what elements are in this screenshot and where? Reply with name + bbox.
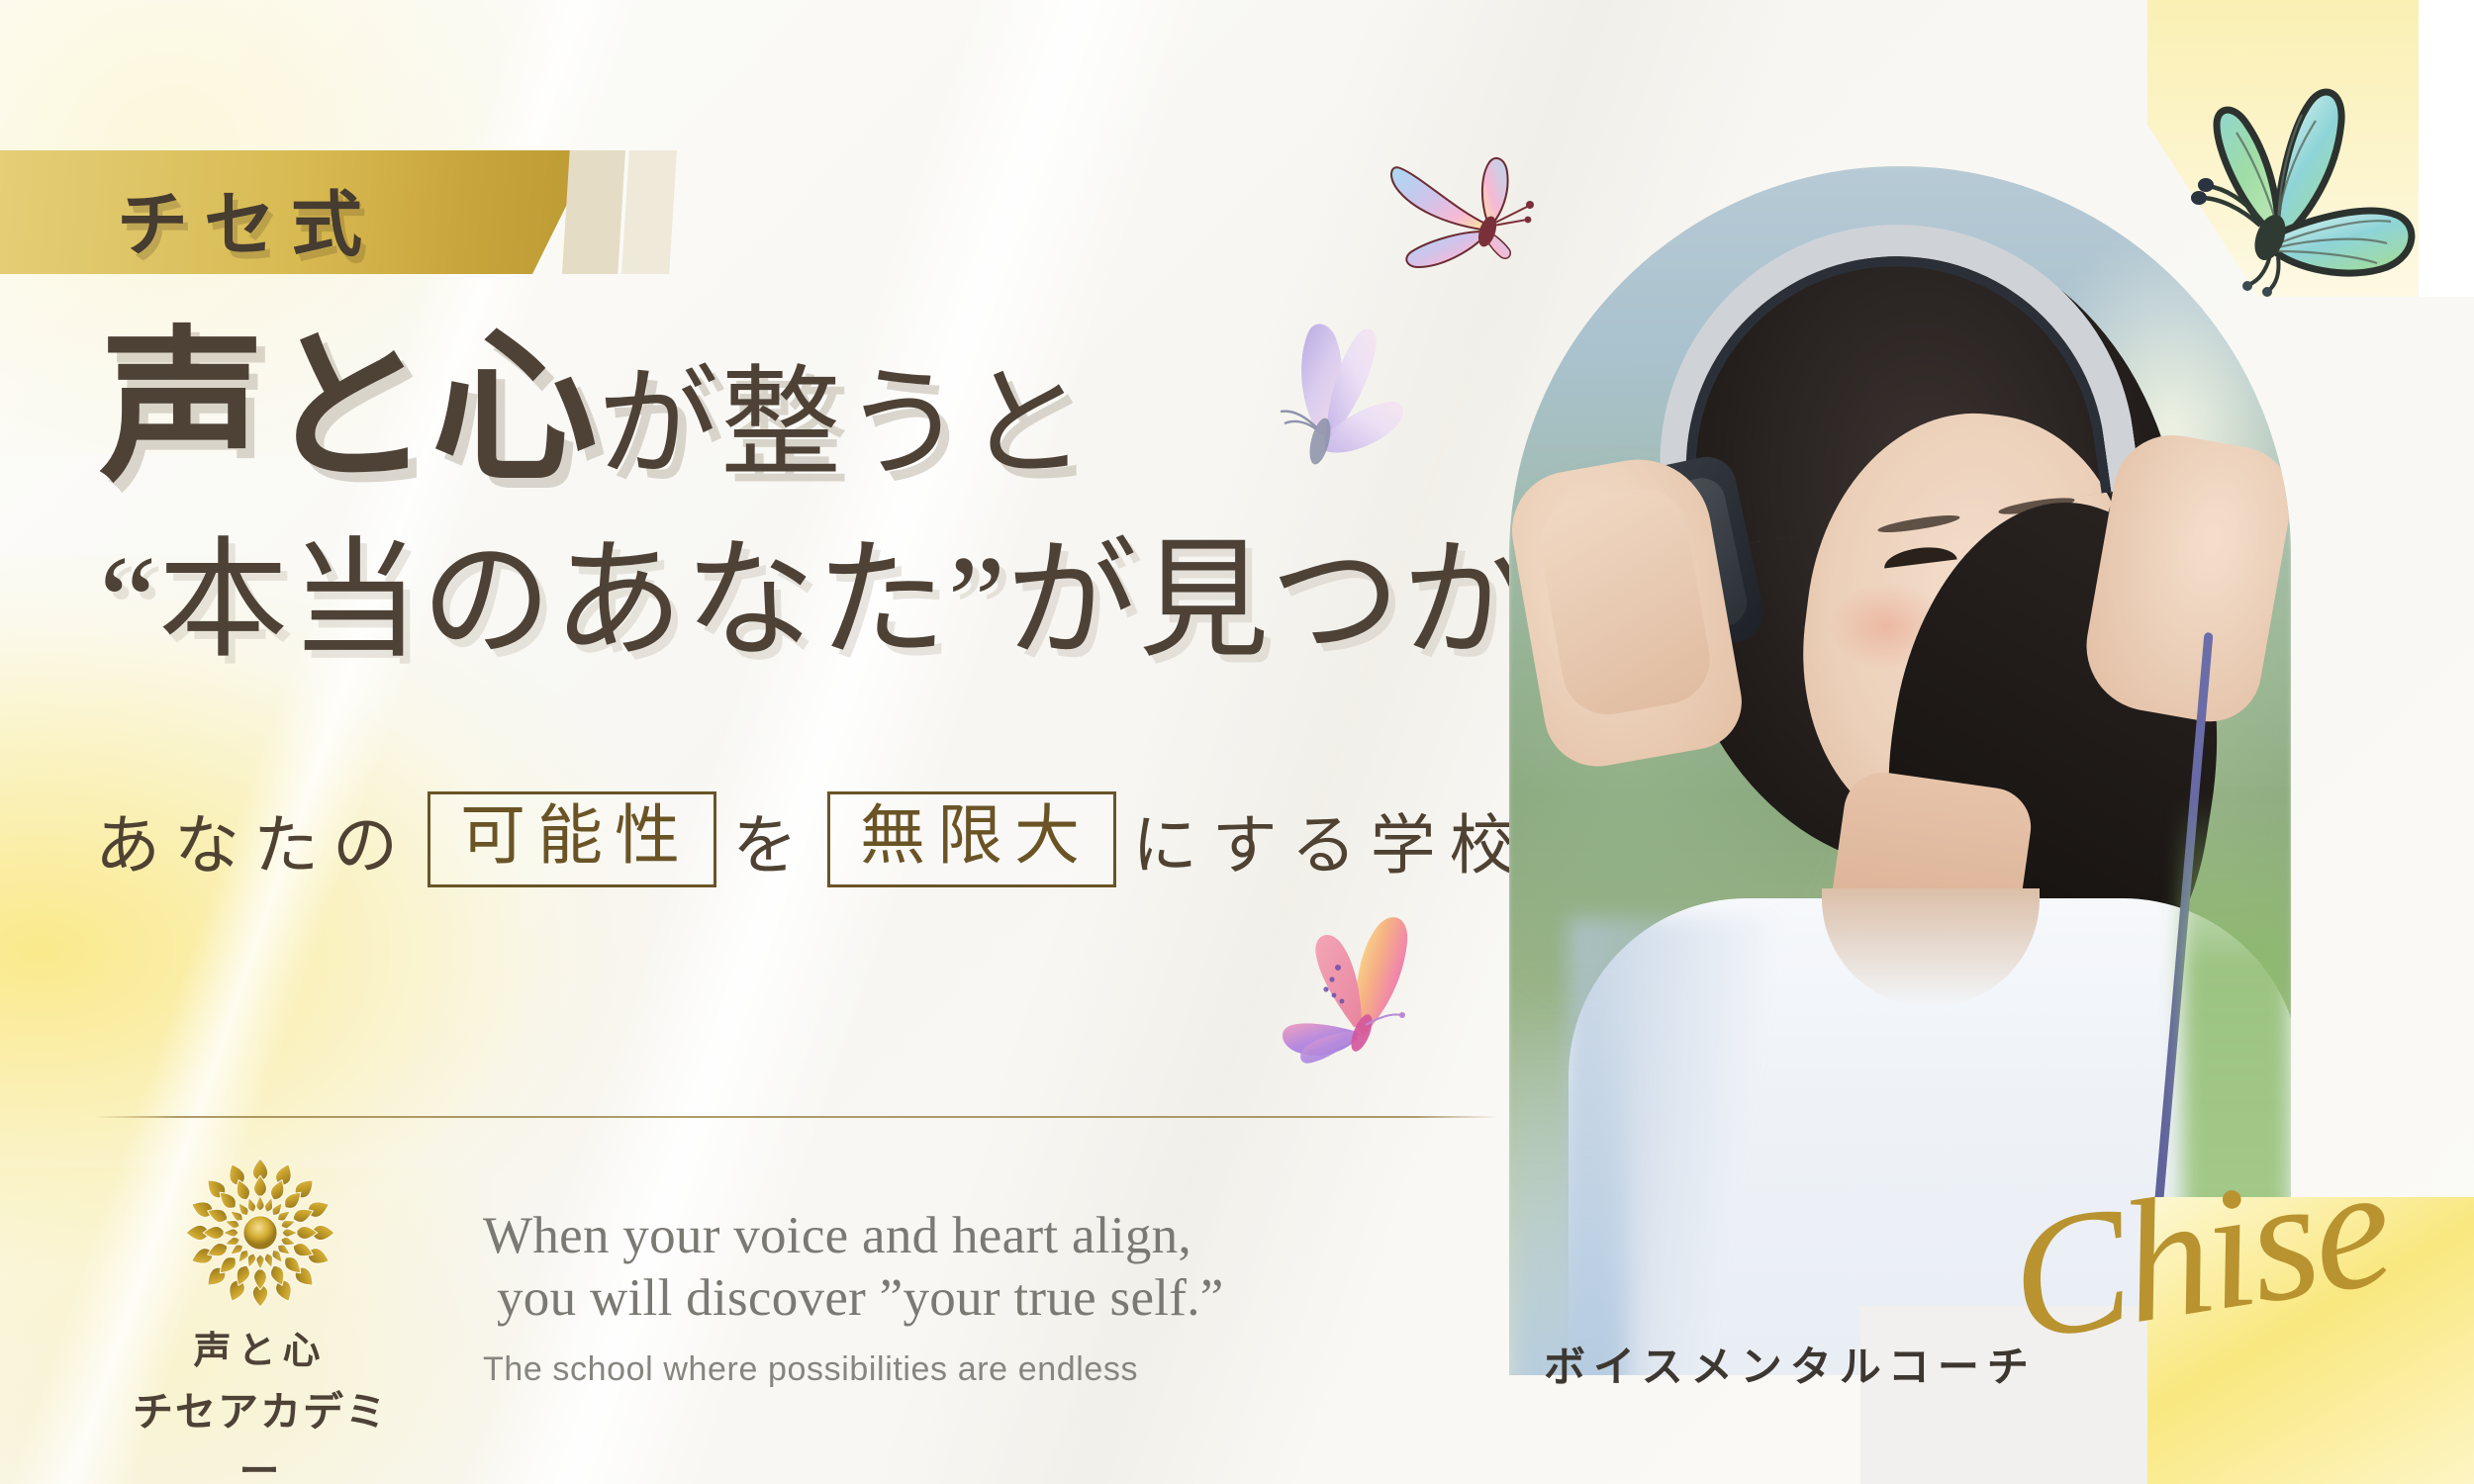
ribbon-tail-1	[562, 150, 625, 274]
english-tagline: The school where possibilities are endle…	[483, 1350, 1374, 1389]
subheadline-middle: を	[732, 792, 811, 887]
english-quote-line-2: you will discover ”your true self.”	[483, 1267, 1374, 1330]
academy-logo: 声と心 チセアカデミー	[117, 1156, 404, 1484]
coach-role-label: ボイスメンタルコーチ	[1544, 1334, 2037, 1394]
mandala-sunflower-icon	[183, 1156, 337, 1310]
subheadline-box-infinite: 無限大	[827, 791, 1116, 887]
butterfly-purple	[1275, 309, 1443, 497]
english-copy-block: When your voice and heart align, you wil…	[483, 1205, 1374, 1389]
photo-shade-left	[1509, 977, 1628, 1375]
promo-banner: チセ式 声と心が整うと “本当のあなた”が見つかる あなたの 可能性 を 無限大…	[0, 0, 2474, 1484]
butterfly-rainbow-pastel	[1369, 146, 1547, 285]
subheadline-after: にする学校	[1132, 792, 1529, 887]
subheadline-box-possibility: 可能性	[428, 791, 716, 887]
butterfly-green-teal	[2175, 81, 2432, 299]
headline-line-1-emphasis: 声と心	[99, 318, 598, 502]
headline-line-1: 声と心が整うと	[99, 326, 1465, 493]
logo-text-line-1: 声と心	[117, 1320, 404, 1374]
ribbon-label: チセ式	[117, 166, 378, 270]
headline-line-2: “本当のあなた”が見つかる	[99, 536, 1465, 667]
horizontal-divider	[94, 1116, 1499, 1118]
subheadline: あなたの 可能性 を 無限大 にする学校	[95, 791, 1529, 887]
headline-block: 声と心が整うと “本当のあなた”が見つかる	[99, 326, 1465, 667]
english-quote-line-1: When your voice and heart align,	[483, 1205, 1374, 1267]
subheadline-before: あなたの	[95, 792, 412, 887]
ribbon-tail-2	[621, 150, 677, 274]
butterfly-pink-orange	[1255, 902, 1443, 1080]
logo-text-line-2: チセアカデミー	[117, 1378, 404, 1484]
gold-ribbon: チセ式	[0, 150, 673, 274]
headline-line-1-rest: が整うと	[598, 358, 1089, 492]
